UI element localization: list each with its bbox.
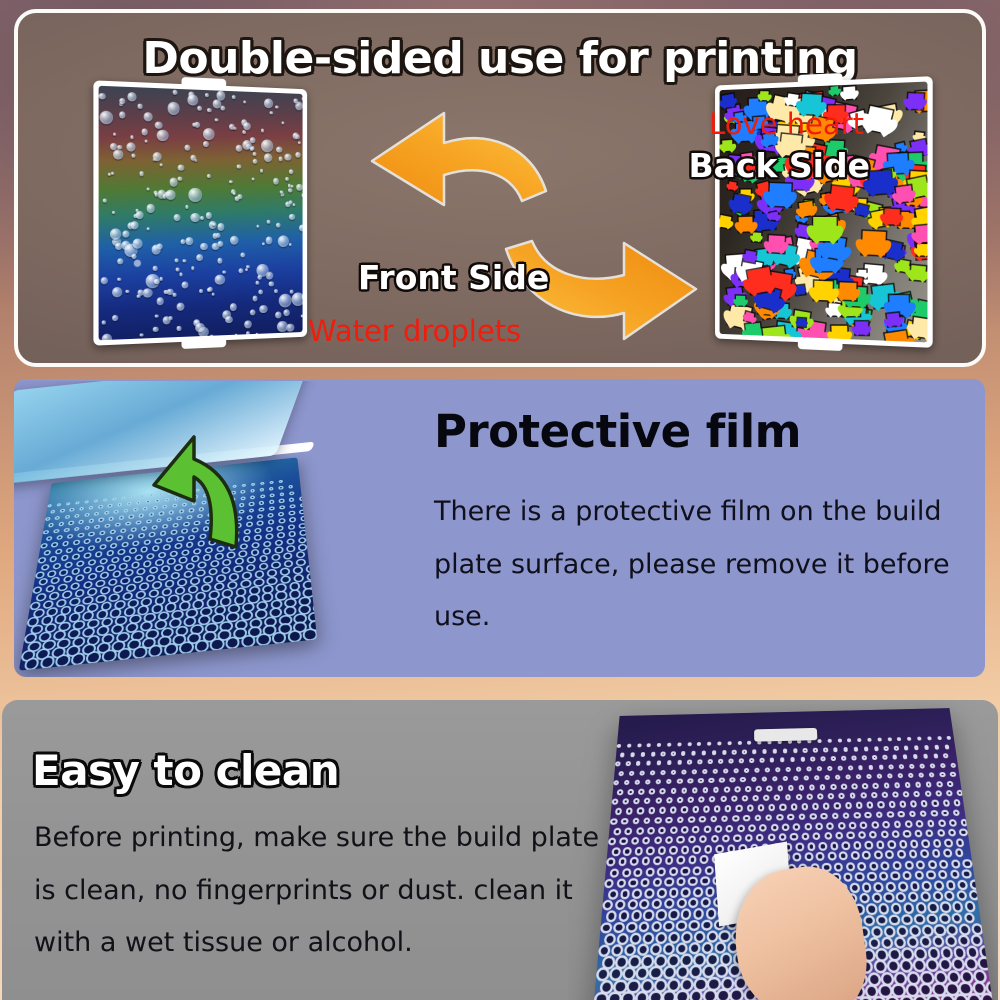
label-back-side: Back Side	[689, 146, 871, 185]
plate-tab-bottom	[798, 337, 843, 351]
hand-wiping-build-plate-photo	[568, 700, 998, 1000]
panel-double-sided-use: Double-sided use for printing	[14, 9, 986, 367]
label-love-heart: Love heart	[709, 107, 864, 141]
body-protective-film: There is a protective film on the build …	[434, 486, 979, 644]
water-droplets-pattern	[99, 86, 303, 341]
water-droplet-build-plate	[93, 80, 307, 345]
plate-tab-bottom	[182, 335, 227, 349]
label-water-droplets: Water droplets	[308, 314, 521, 348]
body-easy-to-clean: Before printing, make sure the build pla…	[34, 812, 614, 970]
label-front-side: Front Side	[358, 258, 549, 297]
protective-film-text-block: Protective film There is a protective fi…	[434, 405, 979, 644]
curved-arrow-left-icon	[336, 105, 556, 213]
build-plate-with-peeling-film-photo	[14, 381, 378, 677]
plate-surface-water	[99, 86, 303, 341]
heading-protective-film: Protective film	[434, 405, 979, 458]
green-peel-arrow-icon	[136, 429, 256, 557]
panel-protective-film: Protective film There is a protective fi…	[14, 379, 985, 677]
heading-easy-to-clean: Easy to clean	[32, 746, 339, 795]
plate-handle	[754, 728, 817, 742]
